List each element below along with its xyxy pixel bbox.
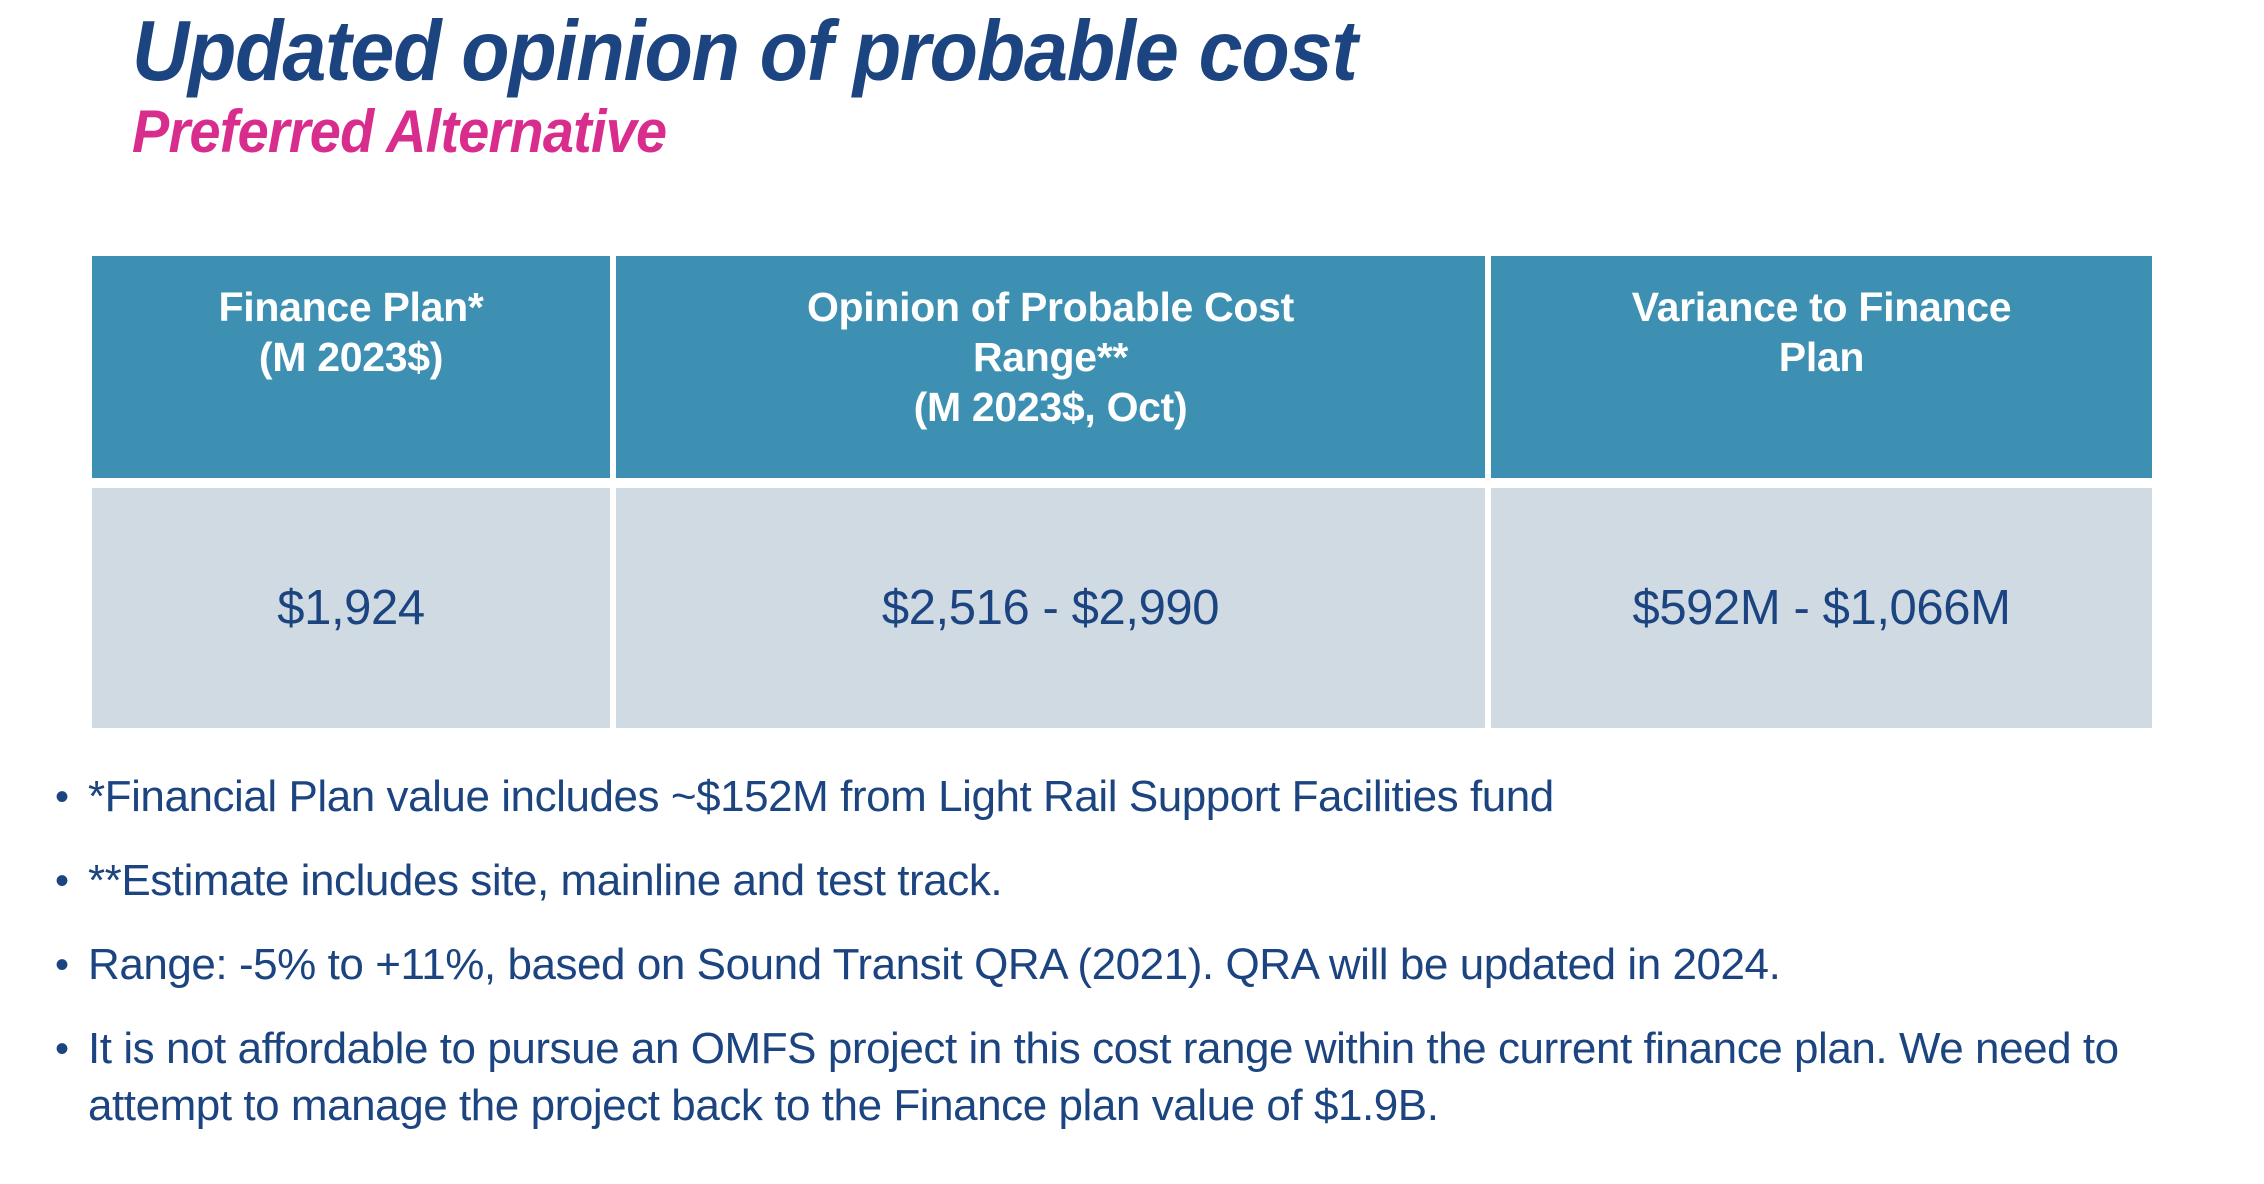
column-header-line-2: Plan (1507, 332, 2136, 382)
column-header-variance-to-finance-plan: Variance to Finance Plan (1491, 256, 2152, 478)
cost-summary-table: Finance Plan* (M 2023$) Opinion of Proba… (92, 256, 2152, 728)
bullet-icon: • (36, 768, 88, 826)
footnote-list: • *Financial Plan value includes ~$152M … (36, 768, 2236, 1134)
cell-finance-plan-value: $1,924 (92, 478, 616, 728)
table-header-row: Finance Plan* (M 2023$) Opinion of Proba… (92, 256, 2152, 478)
page-subtitle: Preferred Alternative (132, 100, 1992, 163)
title-block: Updated opinion of probable cost Preferr… (132, 8, 2132, 163)
list-item-text: Range: -5% to +11%, based on Sound Trans… (88, 936, 2198, 993)
bullet-icon: • (36, 936, 88, 994)
slide-canvas: Updated opinion of probable cost Preferr… (0, 0, 2264, 1184)
column-header-finance-plan: Finance Plan* (M 2023$) (92, 256, 616, 478)
bullet-icon: • (36, 1020, 88, 1078)
list-item: • Range: -5% to +11%, based on Sound Tra… (36, 936, 2236, 994)
cell-opinion-of-probable-cost-range: $2,516 - $2,990 (616, 478, 1491, 728)
list-item-text: It is not affordable to pursue an OMFS p… (88, 1020, 2198, 1134)
column-header-line-3: (M 2023$, Oct) (632, 382, 1469, 432)
list-item: • *Financial Plan value includes ~$152M … (36, 768, 2236, 826)
column-header-opinion-of-probable-cost: Opinion of Probable Cost Range** (M 2023… (616, 256, 1491, 478)
column-header-line-2: Range** (632, 332, 1469, 382)
bullet-icon: • (36, 852, 88, 910)
column-header-line-2: (M 2023$) (108, 332, 594, 382)
list-item-text: *Financial Plan value includes ~$152M fr… (88, 768, 2198, 825)
list-item: • It is not affordable to pursue an OMFS… (36, 1020, 2236, 1134)
column-header-line-1: Opinion of Probable Cost (632, 282, 1469, 332)
list-item: • **Estimate includes site, mainline and… (36, 852, 2236, 910)
page-title: Updated opinion of probable cost (132, 8, 1992, 96)
table-row: $1,924 $2,516 - $2,990 $592M - $1,066M (92, 478, 2152, 728)
cell-variance-to-finance-plan: $592M - $1,066M (1491, 478, 2152, 728)
list-item-text: **Estimate includes site, mainline and t… (88, 852, 2198, 909)
column-header-line-1: Finance Plan* (108, 282, 594, 332)
column-header-line-1: Variance to Finance (1507, 282, 2136, 332)
